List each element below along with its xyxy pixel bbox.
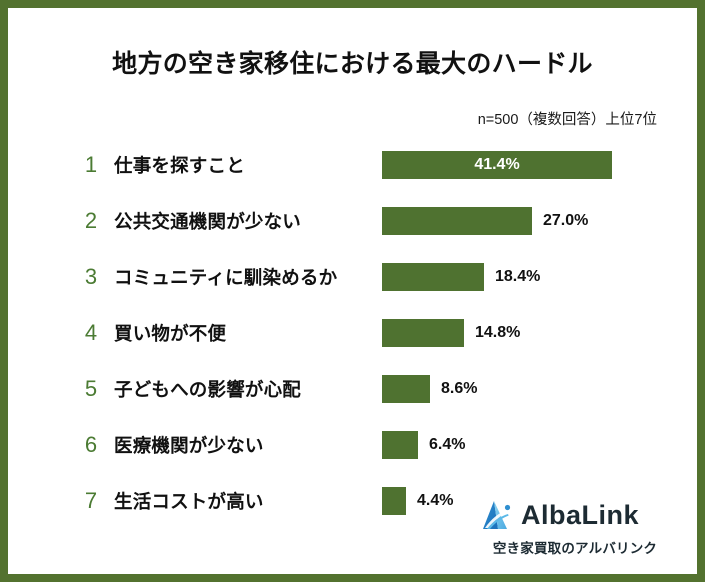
category-label: 子どもへの影響が心配 (114, 376, 301, 402)
logo-tagline: 空き家買取のアルバリンク (475, 537, 675, 557)
rank-number: 4 (80, 322, 102, 344)
logo-wordmark: AlbaLink (521, 502, 639, 529)
bar (382, 431, 418, 459)
category-label: 公共交通機関が少ない (114, 208, 301, 234)
bar (382, 375, 430, 403)
rank-number: 2 (80, 210, 102, 232)
albalink-logo[interactable]: AlbaLink 空き家買取のアルバリンク (475, 496, 675, 558)
ranking-bar-chart: 1仕事を探すこと41.4%2公共交通機関が少ない27.0%3コミュニティに馴染め… (8, 139, 697, 539)
value-label: 27.0% (543, 212, 588, 230)
rank-number: 6 (80, 434, 102, 456)
bar-zone: 18.4% (382, 263, 697, 291)
category-label: 仕事を探すこと (114, 152, 245, 178)
rank-number: 3 (80, 266, 102, 288)
bar (382, 487, 406, 515)
chart-row: 5子どもへの影響が心配8.6% (8, 369, 697, 409)
bar-zone: 41.4% (382, 151, 697, 179)
category-label: 医療機関が少ない (114, 432, 264, 458)
poster-inner: 地方の空き家移住における最大のハードル n=500（複数回答）上位7位 1仕事を… (8, 8, 697, 574)
value-label: 4.4% (417, 492, 453, 510)
sample-size-note: n=500（複数回答）上位7位 (478, 108, 657, 129)
rank-number: 5 (80, 378, 102, 400)
bar-zone: 6.4% (382, 431, 697, 459)
bar-zone: 8.6% (382, 375, 697, 403)
chart-row: 1仕事を探すこと41.4% (8, 145, 697, 185)
value-label: 18.4% (495, 268, 540, 286)
category-label: コミュニティに馴染めるか (114, 264, 337, 290)
infographic-poster: 地方の空き家移住における最大のハードル n=500（複数回答）上位7位 1仕事を… (0, 0, 705, 582)
bar (382, 263, 484, 291)
albalink-mountain-icon (481, 499, 515, 531)
bar (382, 207, 532, 235)
category-label: 買い物が不便 (114, 320, 226, 346)
rank-number: 7 (80, 490, 102, 512)
page-title: 地方の空き家移住における最大のハードル (8, 44, 697, 80)
category-label: 生活コストが高い (114, 488, 264, 514)
rank-number: 1 (80, 154, 102, 176)
value-label: 8.6% (441, 380, 477, 398)
chart-row: 4買い物が不便14.8% (8, 313, 697, 353)
logo-lockup: AlbaLink (475, 496, 675, 534)
value-label: 41.4% (382, 151, 612, 179)
bar (382, 319, 464, 347)
value-label: 6.4% (429, 436, 465, 454)
chart-row: 6医療機関が少ない6.4% (8, 425, 697, 465)
chart-row: 2公共交通機関が少ない27.0% (8, 201, 697, 241)
bar-zone: 27.0% (382, 207, 697, 235)
chart-row: 3コミュニティに馴染めるか18.4% (8, 257, 697, 297)
bar-zone: 14.8% (382, 319, 697, 347)
value-label: 14.8% (475, 324, 520, 342)
